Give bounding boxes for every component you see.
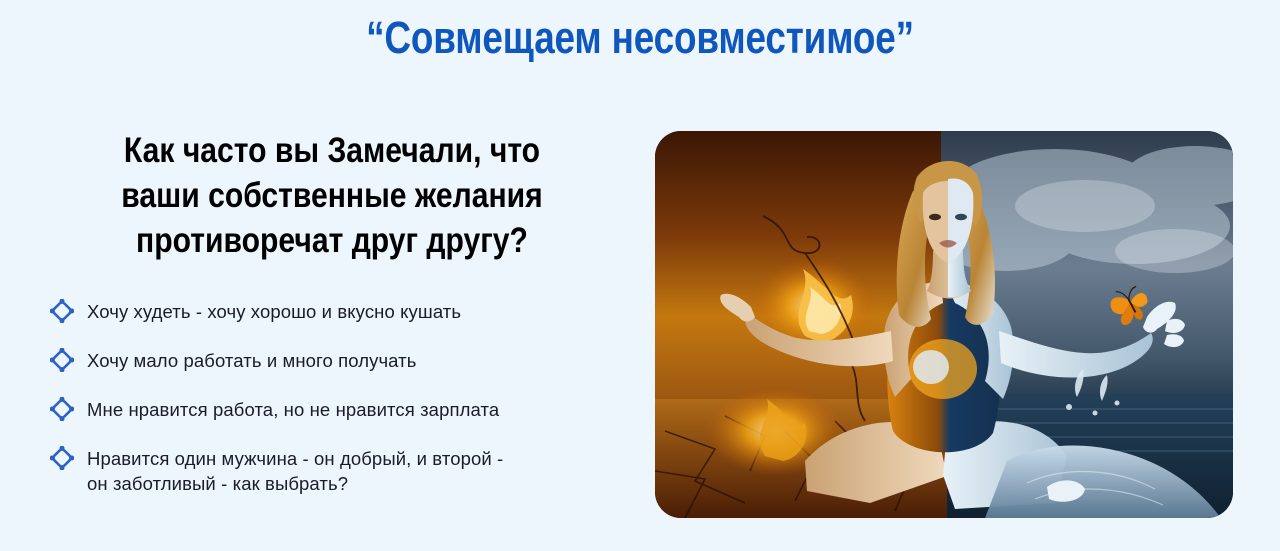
list-item-label: Хочу худеть - хочу хорошо и вкусно кушат… [87,299,461,324]
list-item: Мне нравится работа, но не нравится зарп… [50,397,630,422]
rotated-square-nodes-icon [50,446,74,471]
fire-and-water-woman-illustration [655,131,1233,518]
page-title: “Совмещаем несовместимое” [115,10,1165,66]
list-item: Хочу худеть - хочу хорошо и вкусно кушат… [50,299,630,324]
list-item-label: Мне нравится работа, но не нравится зарп… [87,397,499,422]
rotated-square-nodes-icon [50,299,74,324]
list-item: Нравится один мужчина - он добрый, и вто… [50,446,630,496]
bullet-list: Хочу худеть - хочу хорошо и вкусно кушат… [50,299,630,496]
list-item-label: Нравится один мужчина - он добрый, и вто… [87,446,503,496]
left-content-column: Как часто вы Замечали, что ваши собствен… [42,128,622,263]
rotated-square-nodes-icon [50,397,74,422]
rotated-square-nodes-icon [50,348,74,373]
list-item-label: Хочу мало работать и много получать [87,348,416,373]
question-heading: Как часто вы Замечали, что ваши собствен… [83,128,582,263]
list-item: Хочу мало работать и много получать [50,348,630,373]
